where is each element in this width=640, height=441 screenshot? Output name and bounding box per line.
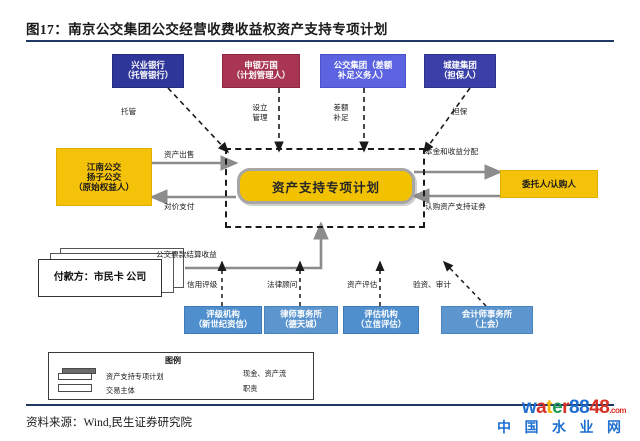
legend-swatch-transaction-entity	[58, 384, 92, 392]
originator-box[interactable]: 江南公交 扬子公交 （原始权益人）	[56, 148, 152, 206]
page-title: 图17：南京公交集团公交经营收费收益权资产支持专项计划	[26, 18, 388, 38]
urban-construction-group-line2: （担保人）	[439, 71, 481, 81]
watermark: water8848.com 中 国 水 业 网	[497, 398, 626, 436]
edge-label-principal-income-distribution: 本金和收益分配	[425, 148, 478, 157]
rating-agency-line2: （新世纪资信）	[194, 320, 253, 330]
originator-line1: 江南公交	[74, 162, 134, 172]
payer-sheet-front: 付款方：市民卡 公司	[38, 259, 162, 297]
service-box-accounting-firm[interactable]: 会计师事务所 （上会）	[441, 306, 533, 334]
accounting-firm-line2: （上会）	[462, 320, 512, 330]
legend-swatch-spv	[58, 368, 98, 382]
edge-label-asset-appraisal: 资产评估	[347, 281, 377, 290]
payer-line1: 付款方：市民卡	[54, 272, 124, 283]
edge-label-asset-sale: 资产出售	[164, 151, 194, 160]
service-box-law-firm[interactable]: 律师事务所 （德天城）	[264, 306, 338, 334]
edge-label-legal-counsel: 法律顾问	[267, 281, 297, 290]
edge-label-shortfall-1: 差额	[324, 104, 358, 113]
figure-page: 图17：南京公交集团公交经营收费收益权资产支持专项计划	[0, 0, 640, 441]
watermark-chinese: 中 国 水 业 网	[497, 422, 626, 436]
service-box-appraisal-agency[interactable]: 评估机构 （立信评估）	[343, 306, 419, 334]
party-box-bus-group[interactable]: 公交集团（差额 补足义务人）	[320, 54, 406, 88]
edge-label-establish: 设立	[243, 104, 277, 113]
legend-label-cash-asset-flow: 现金、资产流	[243, 369, 286, 379]
investor-label: 委托人/认购人	[522, 179, 576, 189]
party-box-plan-manager[interactable]: 申银万国 （计划管理人）	[222, 54, 300, 88]
header-rule	[26, 40, 614, 42]
edge-label-capital-verification-audit: 验资、审计	[413, 281, 451, 290]
edge-label-shortfall-2: 补足	[324, 114, 358, 123]
custodian-bank-line2: （托管银行）	[123, 71, 173, 81]
watermark-wordmark: water8848.com	[497, 398, 626, 417]
legend-title: 图例	[165, 355, 181, 366]
source-note: 资料来源：Wind,民生证券研究院	[26, 414, 192, 430]
edge-label-manage: 管理	[243, 114, 277, 123]
edge-label-credit-rating: 信用评级	[187, 281, 217, 290]
spv-box[interactable]: 资产支持专项计划	[237, 168, 415, 204]
party-box-urban-construction-group[interactable]: 城建集团 （担保人）	[424, 54, 496, 88]
edge-label-subscribe-abs: 认购资产支持证券	[425, 203, 486, 212]
legend-label-spv: 资产支持专项计划	[106, 372, 164, 382]
watermark-domain-suffix: .com	[609, 406, 626, 415]
party-box-custodian-bank[interactable]: 兴业银行 （托管银行）	[112, 54, 184, 88]
appraisal-agency-line2: （立信评估）	[356, 320, 406, 330]
investor-box[interactable]: 委托人/认购人	[500, 170, 598, 198]
legend-label-transaction-entity: 交易主体	[106, 386, 135, 396]
spv-label: 资产支持专项计划	[272, 177, 380, 196]
service-box-rating-agency[interactable]: 评级机构 （新世纪资信）	[184, 306, 262, 334]
bus-group-line2: 补足义务人）	[334, 71, 393, 81]
edge-label-custody: 托管	[121, 108, 136, 117]
law-firm-line2: （德天城）	[280, 320, 322, 330]
legend-label-duty: 职责	[243, 384, 257, 394]
originator-line2: 扬子公交	[74, 172, 134, 182]
payer-line2: 公司	[126, 272, 146, 283]
plan-manager-line2: （计划管理人）	[232, 71, 291, 81]
edge-label-guarantee: 担保	[452, 108, 467, 117]
edge-label-consideration-payment: 对价支付	[164, 203, 194, 212]
originator-line3: （原始权益人）	[74, 182, 134, 192]
edge-label-fare-settlement-income: 公交票款结算收益	[156, 251, 217, 260]
